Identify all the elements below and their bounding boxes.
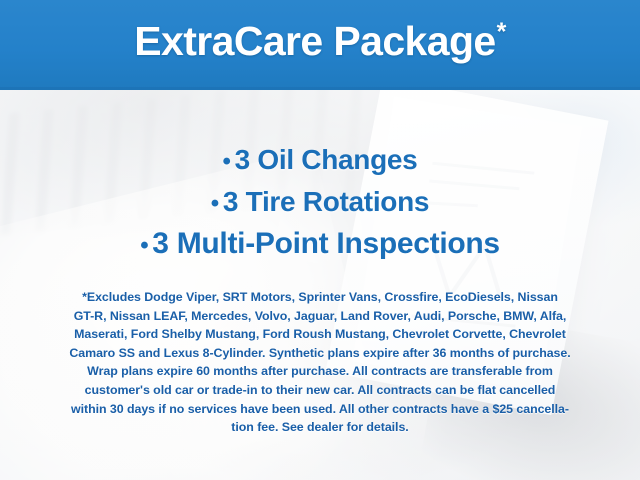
disclaimer-line: Camaro SS and Lexus 8-Cylinder. Syntheti…: [22, 344, 618, 363]
header-bar: ExtraCare Package*: [0, 0, 640, 90]
list-item-label: 3 Multi-Point Inspections: [152, 227, 500, 260]
disclaimer-line: tion fee. See dealer for details.: [22, 418, 618, 437]
list-item: •3 Multi-Point Inspections: [0, 224, 640, 266]
disclaimer-line: Maserati, Ford Shelby Mustang, Ford Rous…: [22, 325, 618, 344]
disclaimer-text: *Excludes Dodge Viper, SRT Motors, Sprin…: [22, 288, 618, 437]
list-item-label: 3 Oil Changes: [235, 144, 418, 175]
page-title: ExtraCare Package*: [0, 18, 640, 65]
disclaimer-line: within 30 days if no services have been …: [22, 400, 618, 419]
disclaimer-line: Wrap plans expire 60 months after purcha…: [22, 362, 618, 381]
title-asterisk: *: [497, 18, 506, 46]
disclaimer-line: GT-R, Nissan LEAF, Mercedes, Volvo, Jagu…: [22, 307, 618, 326]
disclaimer-line: customer's old car or trade-in to their …: [22, 381, 618, 400]
list-item: •3 Oil Changes: [0, 140, 640, 182]
header-bottom-edge: [0, 87, 640, 90]
extracare-package-banner: ExtraCare Package* •3 Oil Changes •3 Tir…: [0, 0, 640, 480]
bullet-dot-icon: •: [223, 148, 231, 175]
page-title-text: ExtraCare Package: [134, 18, 495, 64]
benefits-list: •3 Oil Changes •3 Tire Rotations •3 Mult…: [0, 140, 640, 266]
bullet-dot-icon: •: [211, 190, 219, 217]
list-item: •3 Tire Rotations: [0, 182, 640, 224]
disclaimer-line: *Excludes Dodge Viper, SRT Motors, Sprin…: [22, 288, 618, 307]
bullet-dot-icon: •: [140, 232, 148, 259]
list-item-label: 3 Tire Rotations: [223, 186, 429, 217]
